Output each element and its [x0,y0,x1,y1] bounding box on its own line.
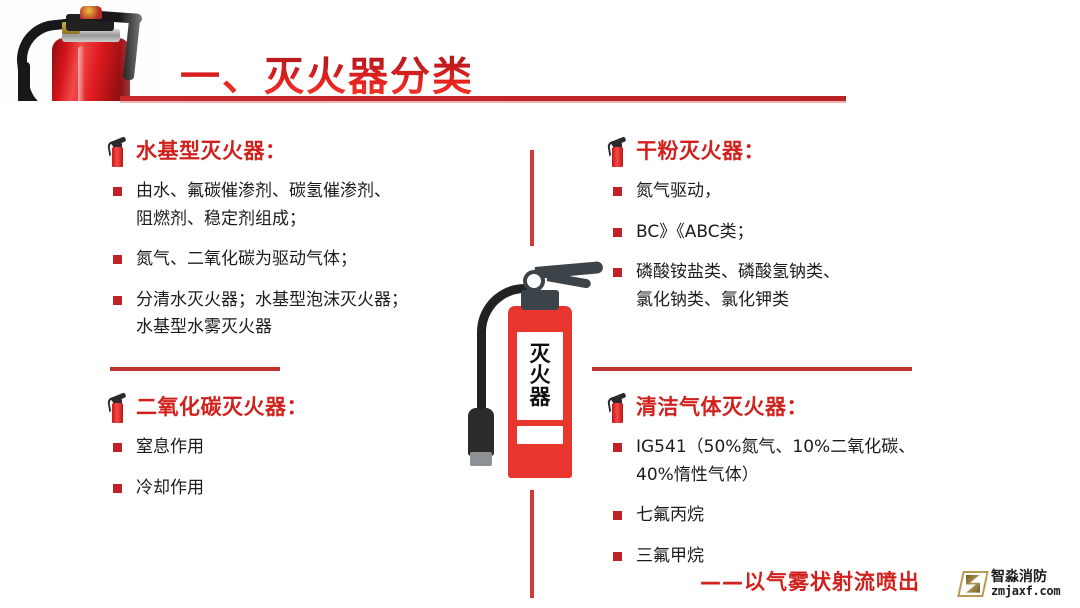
extinguisher-icon [108,394,127,424]
list-item-line: IG541（50%氮气、10%二氧化碳、 [636,434,1038,462]
brand-logo: 智淼消防 zmjaxf.com [960,570,1060,597]
center-label-strip [517,426,563,444]
list-item-line: 由水、氟碳催渗剂、碳氢催渗剂、 [136,178,518,206]
section-clean-agent-title: 清洁气体灭火器： [636,396,808,419]
center-label-char-1: 灭 [530,344,551,366]
list-item-line: 冷却作用 [136,475,518,503]
section-dry-powder-title: 干粉灭火器： [636,140,765,163]
list-item-line: 磷酸铵盐类、磷酸氢钠类、 [636,259,1028,287]
brand-url: zmjaxf.com [991,585,1060,598]
header-extinguisher-photo [0,0,162,101]
center-extinguisher-label: 灭 火 器 [517,332,563,420]
slide-canvas: 一、灭火器分类 灭 火 器 水基型灭火器： 由水 [0,0,1080,608]
vertical-divider-top [530,150,534,246]
vertical-divider-bottom [530,490,534,598]
section-carbon-dioxide-header: 二氧化碳灭火器： [108,396,518,424]
photo-cap-icon [80,6,102,19]
brand-text: 智淼消防 zmjaxf.com [991,570,1060,597]
photo-fade-overlay [120,0,162,101]
list-item: 氮气、二氧化碳为驱动气体； [108,246,518,274]
section-carbon-dioxide-list: 窒息作用 冷却作用 [108,434,518,502]
section-water-based: 水基型灭火器： 由水、氟碳催渗剂、碳氢催渗剂、 阻燃剂、稳定剂组成； 氮气、二氧… [108,140,518,355]
center-neck-icon [521,290,559,310]
section-dry-powder: 干粉灭火器： 氮气驱动， BC》《ABC类； 磷酸铵盐类、磷酸氢钠类、 氯化钠类… [608,140,1028,327]
section-water-based-list: 由水、氟碳催渗剂、碳氢催渗剂、 阻燃剂、稳定剂组成； 氮气、二氧化碳为驱动气体；… [108,178,518,342]
diamond-z-logo-icon [960,571,986,597]
list-item: 由水、氟碳催渗剂、碳氢催渗剂、 阻燃剂、稳定剂组成； [108,178,518,233]
list-item-line: BC》《ABC类； [636,219,1028,247]
list-item: 窒息作用 [108,434,518,462]
list-item-line: 氮气、二氧化碳为驱动气体； [136,246,518,274]
list-item-line: 七氟丙烷 [636,502,1038,530]
section-carbon-dioxide: 二氧化碳灭火器： 窒息作用 冷却作用 [108,396,518,515]
list-item: 分清水灭火器；水基型泡沫灭火器； 水基型水雾灭火器 [108,287,518,342]
photo-hose-lower-icon [18,62,30,101]
brand-name: 智淼消防 [991,570,1060,585]
section-clean-agent: 清洁气体灭火器： IG541（50%氮气、10%二氧化碳、 40%惰性气体） 七… [608,396,1038,583]
section-clean-agent-list: IG541（50%氮气、10%二氧化碳、 40%惰性气体） 七氟丙烷 三氟甲烷 [608,434,1038,570]
center-label-char-3: 器 [530,387,551,409]
footer-note: ——以气雾状射流喷出 [700,566,920,596]
list-item-line: 窒息作用 [136,434,518,462]
header-rule-shadow [120,101,846,103]
section-dry-powder-header: 干粉灭火器： [608,140,1028,168]
section-water-based-title: 水基型灭火器： [136,140,287,163]
list-item-line: 40%惰性气体） [636,462,1038,490]
center-knob-icon [523,270,545,292]
list-item: 七氟丙烷 [608,502,1038,530]
list-item: 冷却作用 [108,475,518,503]
section-carbon-dioxide-title: 二氧化碳灭火器： [136,396,308,419]
extinguisher-icon [108,138,127,168]
extinguisher-icon [608,394,627,424]
list-item: 磷酸铵盐类、磷酸氢钠类、 氯化钠类、氯化钾类 [608,259,1028,314]
page-title: 一、灭火器分类 [180,44,474,102]
list-item: 氮气驱动， [608,178,1028,206]
center-label-char-2: 火 [530,365,551,387]
section-dry-powder-list: 氮气驱动， BC》《ABC类； 磷酸铵盐类、磷酸氢钠类、 氯化钠类、氯化钾类 [608,178,1028,314]
horizontal-divider-left [110,367,280,371]
list-item: IG541（50%氮气、10%二氧化碳、 40%惰性气体） [608,434,1038,489]
list-item-line: 阻燃剂、稳定剂组成； [136,206,518,234]
list-item-line: 氯化钠类、氯化钾类 [636,287,1028,315]
list-item-line: 水基型水雾灭火器 [136,314,518,342]
section-clean-agent-header: 清洁气体灭火器： [608,396,1038,424]
photo-cylinder-icon [52,38,130,101]
list-item: BC》《ABC类； [608,219,1028,247]
section-water-based-header: 水基型灭火器： [108,140,518,168]
extinguisher-icon [608,138,627,168]
horizontal-divider-right [592,367,912,371]
list-item-line: 氮气驱动， [636,178,1028,206]
list-item-line: 分清水灭火器；水基型泡沫灭火器； [136,287,518,315]
